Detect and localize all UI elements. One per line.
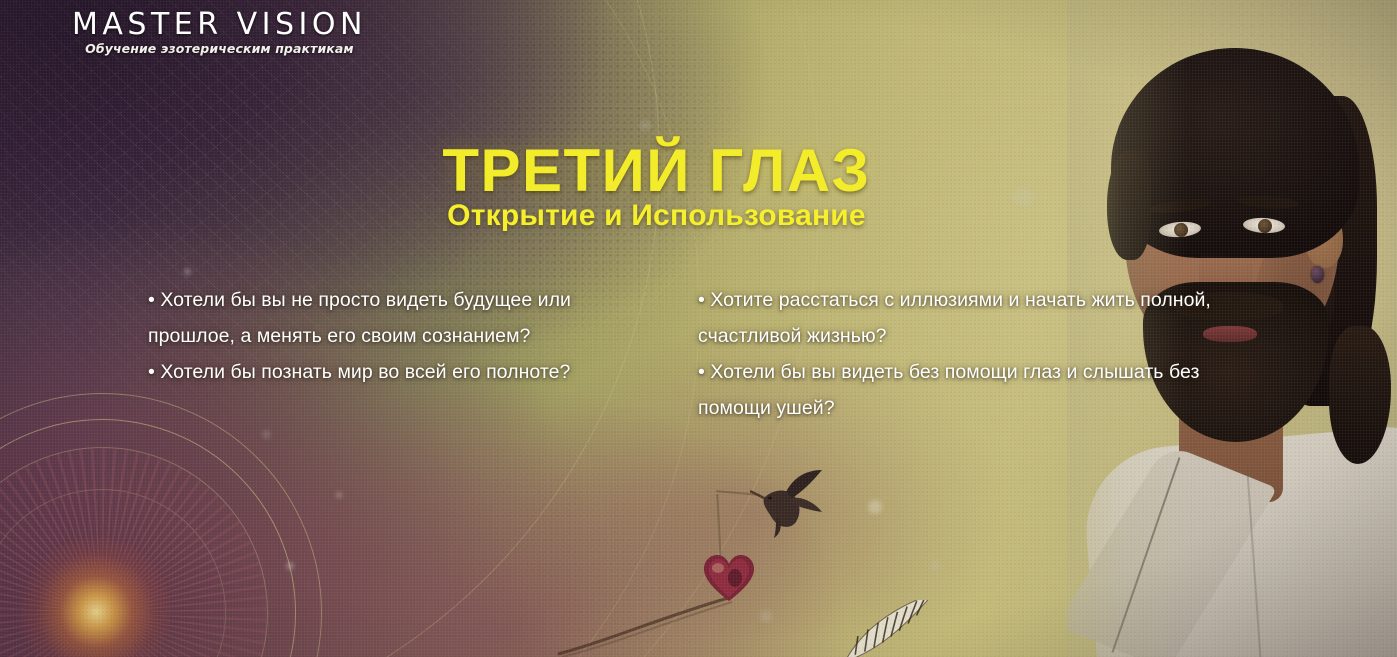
bullet-column-right: • Хотите расстаться с иллюзиями и начать…	[698, 283, 1238, 427]
bullet-item: • Хотели бы познать мир во всей его полн…	[148, 355, 648, 391]
bullet-columns: • Хотели бы вы не просто видеть будущее …	[0, 283, 1397, 453]
brand-logo-name-master: MASTER	[72, 7, 223, 42]
brand-tagline: Обучение эзотерическим практикам	[72, 43, 367, 56]
brand-logo-name-vision: VISION	[237, 7, 367, 42]
bullet-item: • Хотели бы вы видеть без помощи глаз и …	[698, 355, 1238, 427]
brand-logo[interactable]: MASTERVISION Обучение эзотерическим прак…	[72, 10, 367, 56]
bullet-column-left: • Хотели бы вы не просто видеть будущее …	[148, 283, 648, 391]
promo-banner: MASTERVISION Обучение эзотерическим прак…	[0, 0, 1397, 657]
bullet-item: • Хотите расстаться с иллюзиями и начать…	[698, 283, 1238, 355]
brand-logo-name: MASTERVISION	[72, 10, 367, 40]
bullet-item: • Хотели бы вы не просто видеть будущее …	[148, 283, 648, 355]
